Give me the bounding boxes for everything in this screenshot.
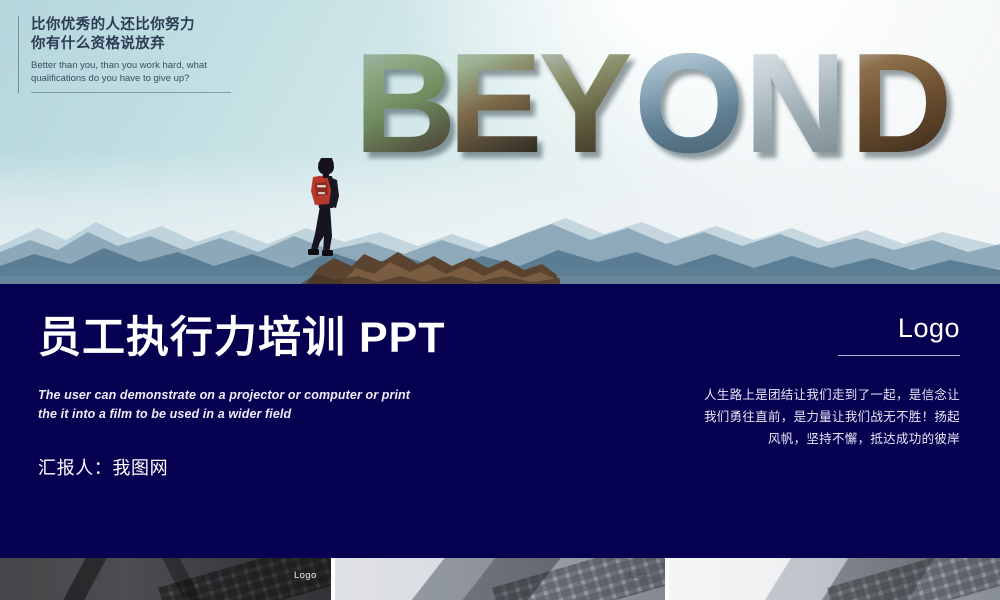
- quote-block: 比你优秀的人还比你努力 你有什么资格说放弃 Better than you, t…: [18, 16, 261, 93]
- thumbnail-strip: Logo Logo: [0, 558, 1000, 600]
- logo-divider: [838, 355, 960, 356]
- svg-text:E: E: [448, 34, 539, 174]
- quote-english: Better than you, than you work hard, wha…: [31, 59, 227, 85]
- hero-photo-band: B E Y O N D 比你优秀的人还比你努力 你有什么资格说放弃 Better…: [0, 0, 1000, 284]
- logo-panel: Logo 人生路上是团结让我们走到了一起，是信念让我们勇往直前，是力量让我们战无…: [700, 312, 960, 450]
- thumbnail-slide-2[interactable]: Logo: [335, 558, 666, 600]
- page-title: 员工执行力培训 PPT: [38, 312, 598, 364]
- subtitle-english: The user can demonstrate on a projector …: [38, 386, 418, 424]
- thumbnail-image-3: [669, 558, 1000, 600]
- svg-text:O: O: [634, 34, 740, 174]
- svg-text:D: D: [850, 34, 949, 174]
- thumbnail-slide-1[interactable]: Logo: [0, 558, 331, 600]
- quote-line-2: 你有什么资格说放弃: [31, 35, 261, 54]
- navy-content-band: 员工执行力培训 PPT The user can demonstrate on …: [0, 284, 1000, 558]
- svg-text:Y: Y: [538, 34, 631, 174]
- quote-line-1: 比你优秀的人还比你努力: [31, 16, 261, 35]
- beyond-wordmark: B E Y O N D: [352, 34, 992, 174]
- thumbnail-slide-3[interactable]: [669, 558, 1000, 600]
- thumbnail-image-1: [0, 558, 331, 600]
- thumbnail-image-2: [335, 558, 666, 600]
- presenter-line: 汇报人：我图网: [38, 456, 598, 480]
- quote-divider: [31, 92, 231, 93]
- presentation-slide: B E Y O N D 比你优秀的人还比你努力 你有什么资格说放弃 Better…: [0, 0, 1000, 600]
- thumbnail-logo-1: Logo: [294, 570, 317, 581]
- thumbnail-logo-2: Logo: [629, 570, 652, 581]
- hiker-figure-icon: [296, 150, 358, 260]
- svg-text:N: N: [744, 34, 843, 174]
- keyboard-keys-icon: [827, 558, 1000, 600]
- title-block: 员工执行力培训 PPT The user can demonstrate on …: [38, 312, 598, 480]
- logo-label: Logo: [700, 312, 960, 344]
- logo-paragraph: 人生路上是团结让我们走到了一起，是信念让我们勇往直前，是力量让我们战无不胜！扬起…: [700, 384, 960, 450]
- svg-text:B: B: [354, 34, 453, 174]
